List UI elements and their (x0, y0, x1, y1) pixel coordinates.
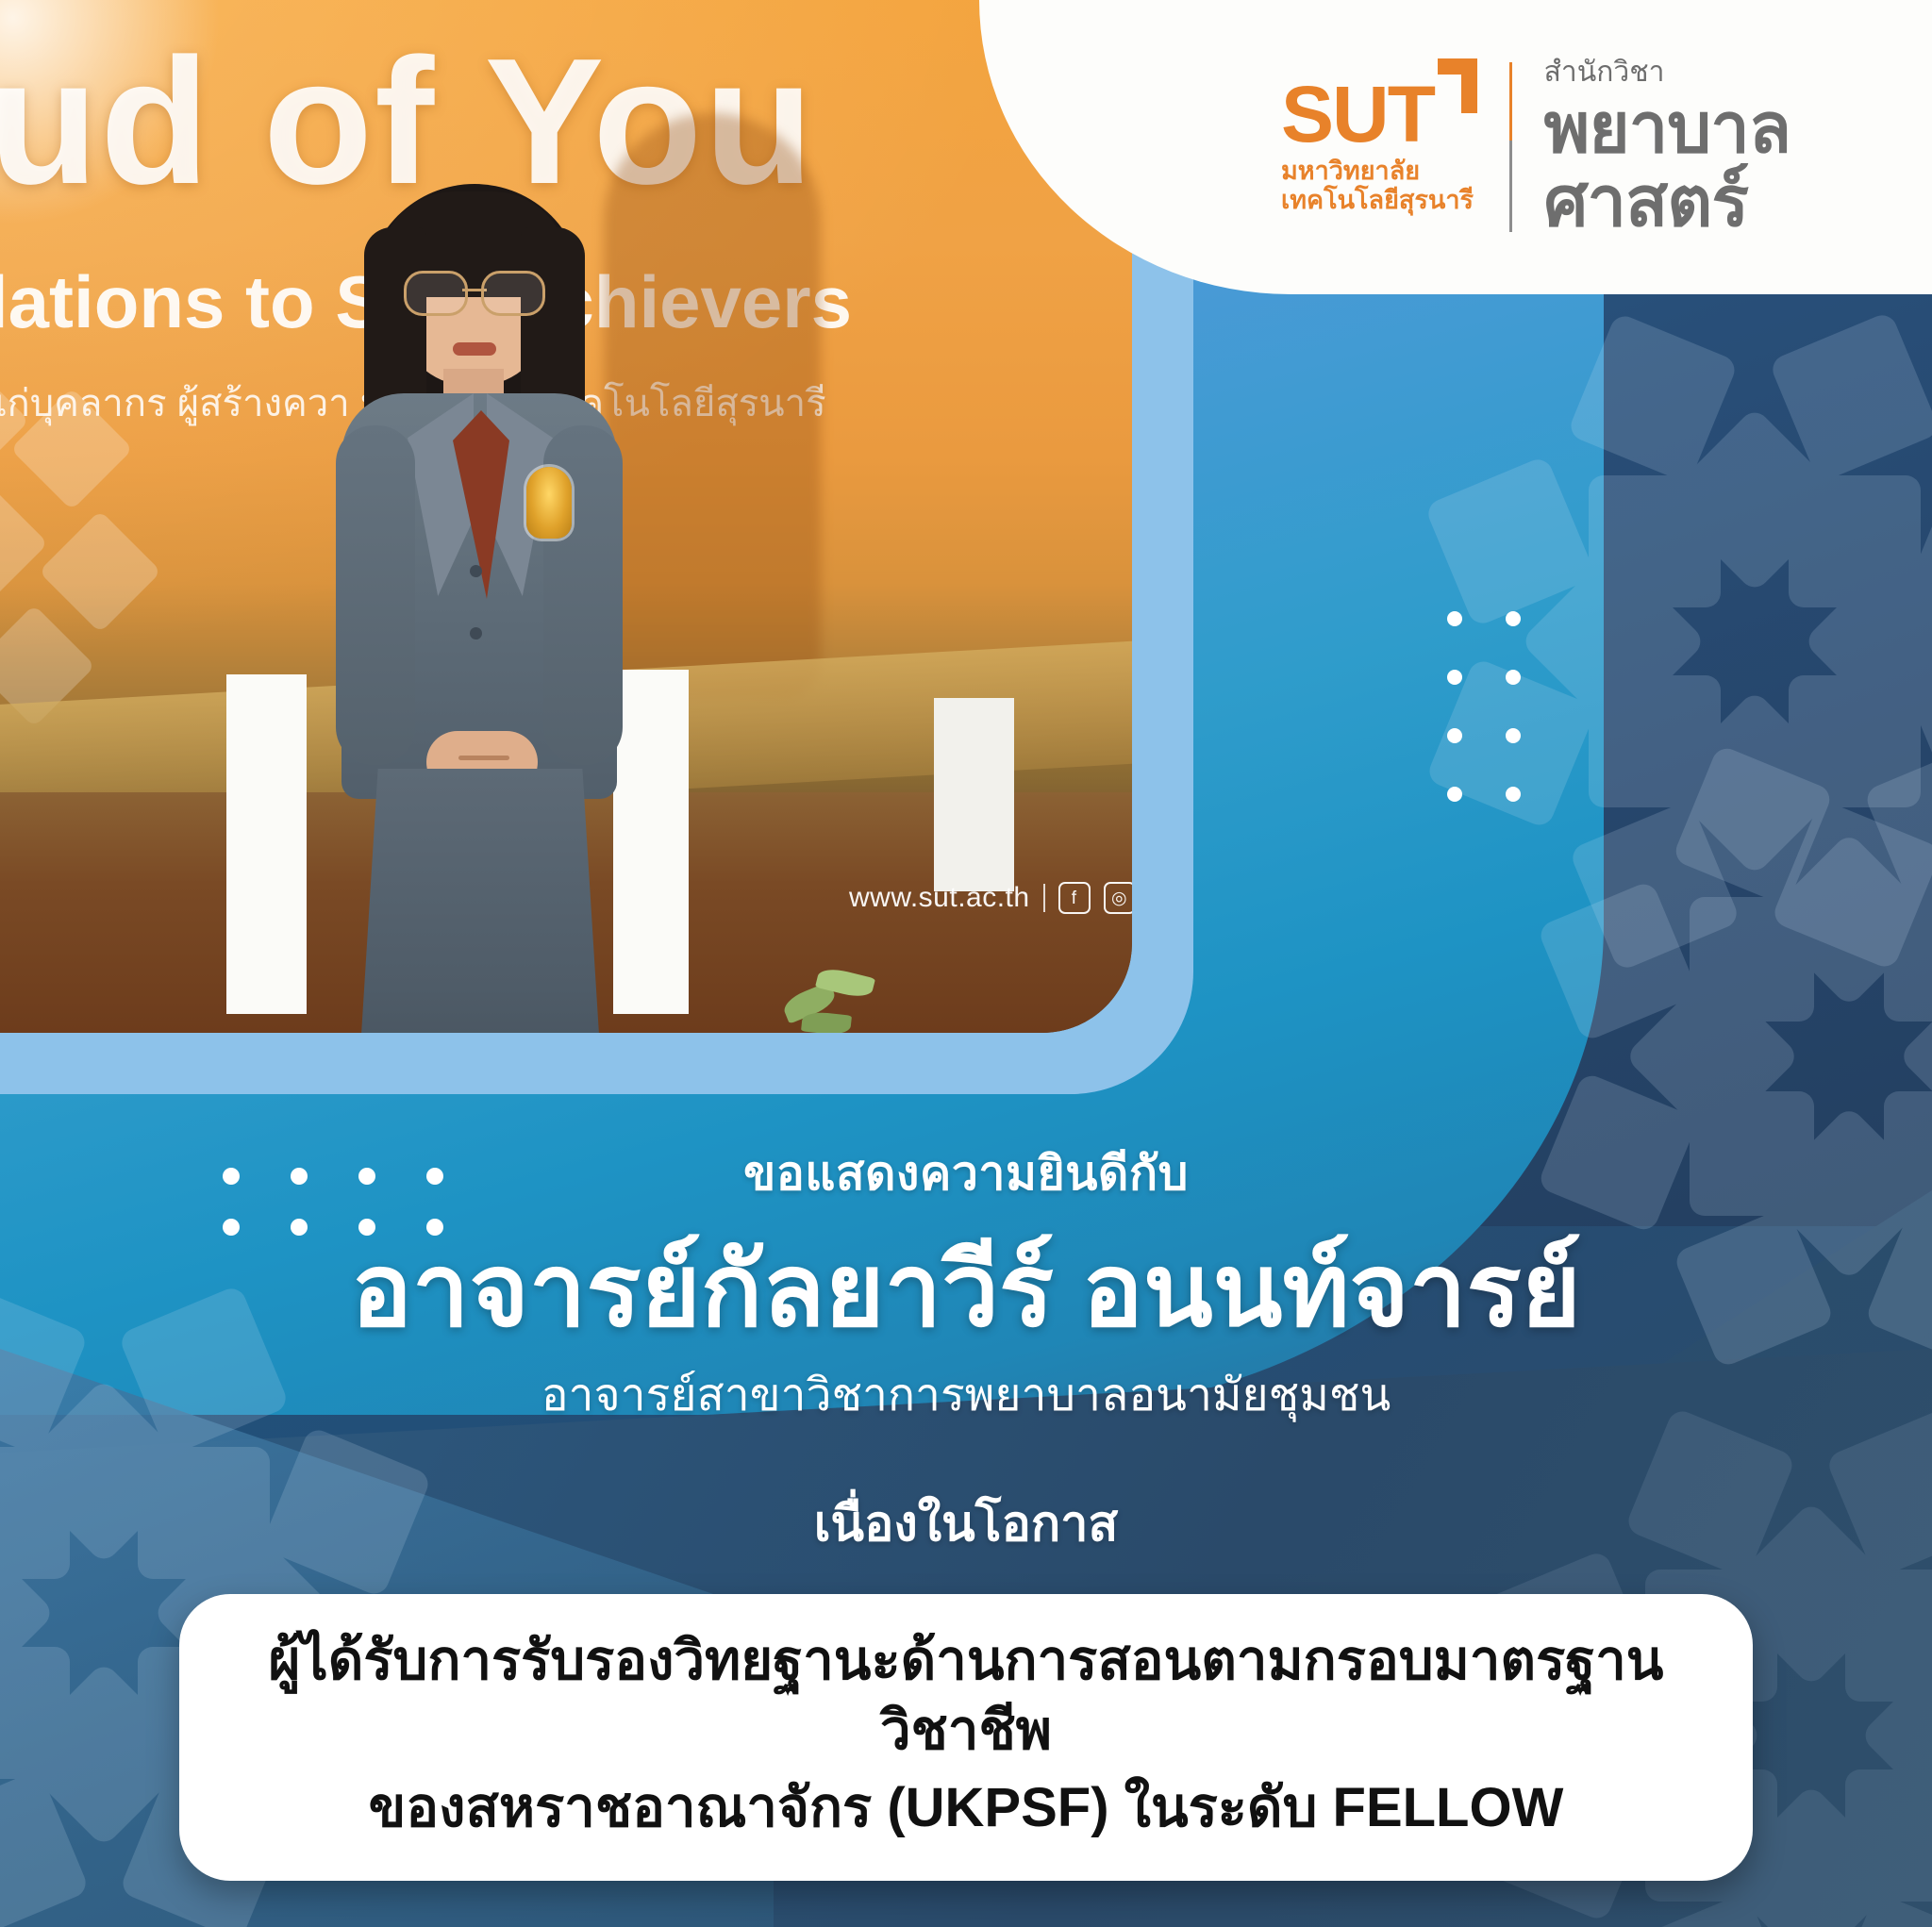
photo-person-shadow (604, 113, 821, 698)
poster-content: ขอแสดงความยินดีกับ อาจารย์กัลยาวีร์ อนนท… (0, 1137, 1932, 1927)
congratulation-poster: oud of You atulations to SUT Achievers ย… (0, 0, 1932, 1927)
stage-plant (774, 962, 887, 1033)
photo-clip: oud of You atulations to SUT Achievers ย… (0, 0, 1132, 1033)
podium-column (226, 674, 307, 1014)
logo-divider (1509, 62, 1512, 232)
event-photo: oud of You atulations to SUT Achievers ย… (0, 0, 1132, 1033)
honoree-photo-figure (321, 184, 632, 1033)
sut-logo: SUT มหาวิทยาลัย เทคโนโลยีสุรนารี (1281, 79, 1477, 215)
sut-acronym: SUT (1281, 79, 1434, 151)
sut-university-line1: มหาวิทยาลัย (1281, 157, 1474, 186)
occasion-label: เนื่องในโอกาส (0, 1484, 1932, 1562)
honoree-name: อาจารย์กัลยาวีร์ อนนท์จารย์ (0, 1236, 1932, 1346)
award-line-2: ของสหราชอาณาจักร (UKPSF) ในระดับ FELLOW (226, 1773, 1706, 1843)
uniform-emblem-icon (526, 467, 572, 539)
school-prefix: สำนักวิชา (1544, 57, 1932, 88)
school-name: พยาบาลศาสตร์ (1544, 91, 1932, 238)
website-text: www.sut.ac.th (849, 882, 1030, 914)
honoree-role: อาจารย์สาขาวิชาการพยาบาลอนามัยชุมชน (0, 1359, 1932, 1431)
award-line-1: ผู้ได้รับการรับรองวิทยฐานะด้านการสอนตามก… (226, 1626, 1706, 1766)
school-block: สำนักวิชา พยาบาลศาสตร์ (1544, 57, 1932, 238)
photo-website-credit: www.sut.ac.th f ◎ (849, 882, 1132, 914)
award-card: ผู้ได้รับการรับรองวิทยฐานะด้านการสอนตามก… (179, 1594, 1753, 1882)
sut-university-line2: เทคโนโลยีสุรนารี (1281, 186, 1474, 215)
credit-divider (1043, 884, 1045, 912)
dot-grid-right (1447, 611, 1521, 802)
podium-column (934, 698, 1014, 891)
eyeglasses-icon (404, 271, 545, 310)
facebook-icon: f (1058, 882, 1091, 914)
sut-wordmark: SUT (1281, 79, 1477, 151)
sut-flag-icon (1438, 58, 1477, 113)
congratulation-label: ขอแสดงความยินดีกับ (0, 1137, 1932, 1211)
instagram-icon: ◎ (1104, 882, 1132, 914)
sut-university-name: มหาวิทยาลัย เทคโนโลยีสุรนารี (1281, 157, 1474, 215)
photo-frame: oud of You atulations to SUT Achievers ย… (0, 0, 1193, 1094)
